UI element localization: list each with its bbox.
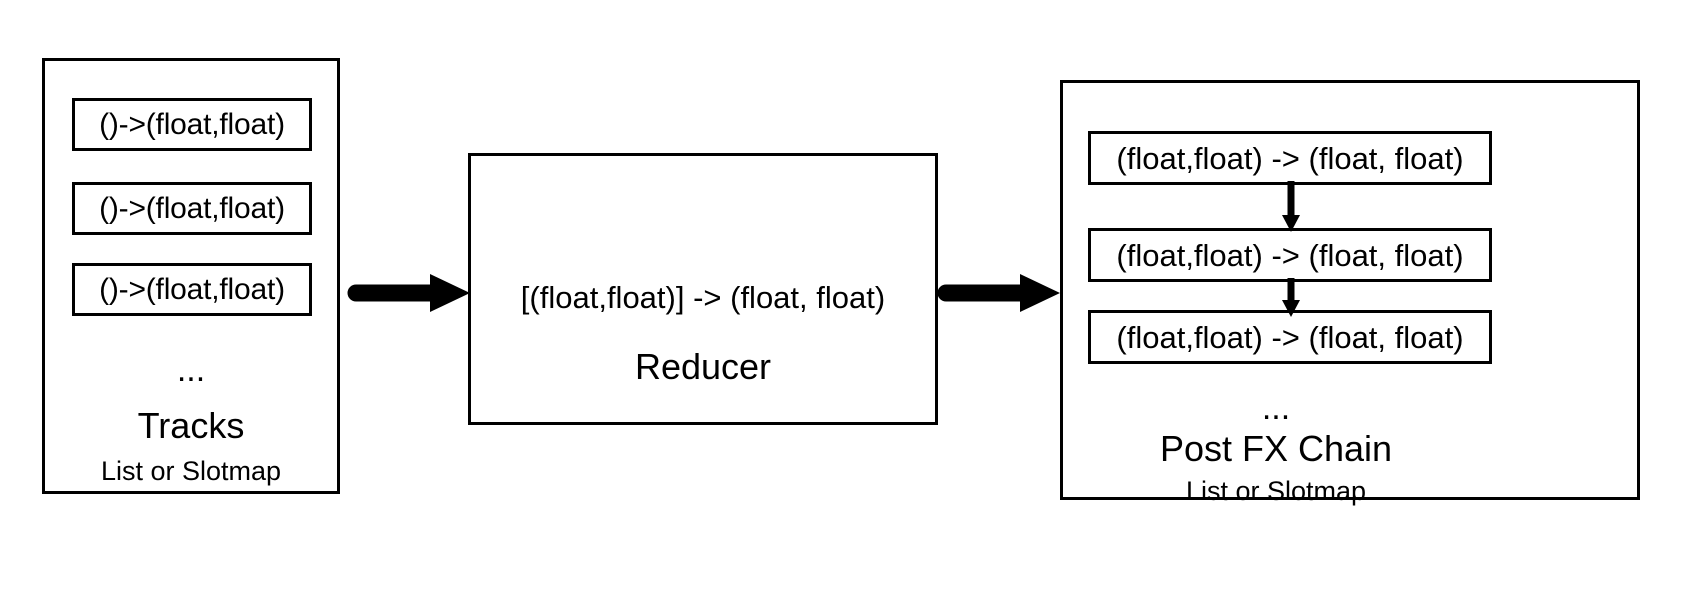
arrow-reducer-to-fx [942, 272, 1062, 314]
arrow-fx2-to-fx3 [1280, 278, 1302, 318]
track-signature: ()->(float,float) [99, 194, 285, 224]
reducer-container[interactable]: [(float,float)] -> (float, float) Reduce… [468, 153, 938, 425]
post-fx-chain-ellipsis: ... [1063, 391, 1489, 425]
track-item[interactable]: ()->(float,float) [72, 98, 312, 151]
reducer-signature: [(float,float)] -> (float, float) [471, 280, 935, 316]
fx-signature: (float,float) -> (float, float) [1116, 143, 1463, 174]
post-fx-chain-subtitle: List or Slotmap [1063, 478, 1489, 505]
track-item[interactable]: ()->(float,float) [72, 182, 312, 235]
fx-signature: (float,float) -> (float, float) [1116, 322, 1463, 353]
track-item[interactable]: ()->(float,float) [72, 263, 312, 316]
post-fx-chain-title: Post FX Chain [1063, 431, 1489, 467]
fx-item[interactable]: (float,float) -> (float, float) [1088, 131, 1492, 185]
tracks-container[interactable]: ()->(float,float) ()->(float,float) ()->… [42, 58, 340, 494]
arrow-fx1-to-fx2 [1280, 181, 1302, 233]
fx-signature: (float,float) -> (float, float) [1116, 240, 1463, 271]
arrow-tracks-to-reducer [352, 272, 472, 314]
reducer-title: Reducer [471, 346, 935, 388]
tracks-ellipsis: ... [45, 353, 337, 387]
diagram-canvas: ()->(float,float) ()->(float,float) ()->… [0, 0, 1694, 600]
track-signature: ()->(float,float) [99, 275, 285, 305]
track-signature: ()->(float,float) [99, 110, 285, 140]
fx-item[interactable]: (float,float) -> (float, float) [1088, 310, 1492, 364]
post-fx-chain-container[interactable]: (float,float) -> (float, float) (float,f… [1060, 80, 1640, 500]
fx-item[interactable]: (float,float) -> (float, float) [1088, 228, 1492, 282]
tracks-subtitle: List or Slotmap [45, 458, 337, 485]
tracks-title: Tracks [45, 408, 337, 444]
